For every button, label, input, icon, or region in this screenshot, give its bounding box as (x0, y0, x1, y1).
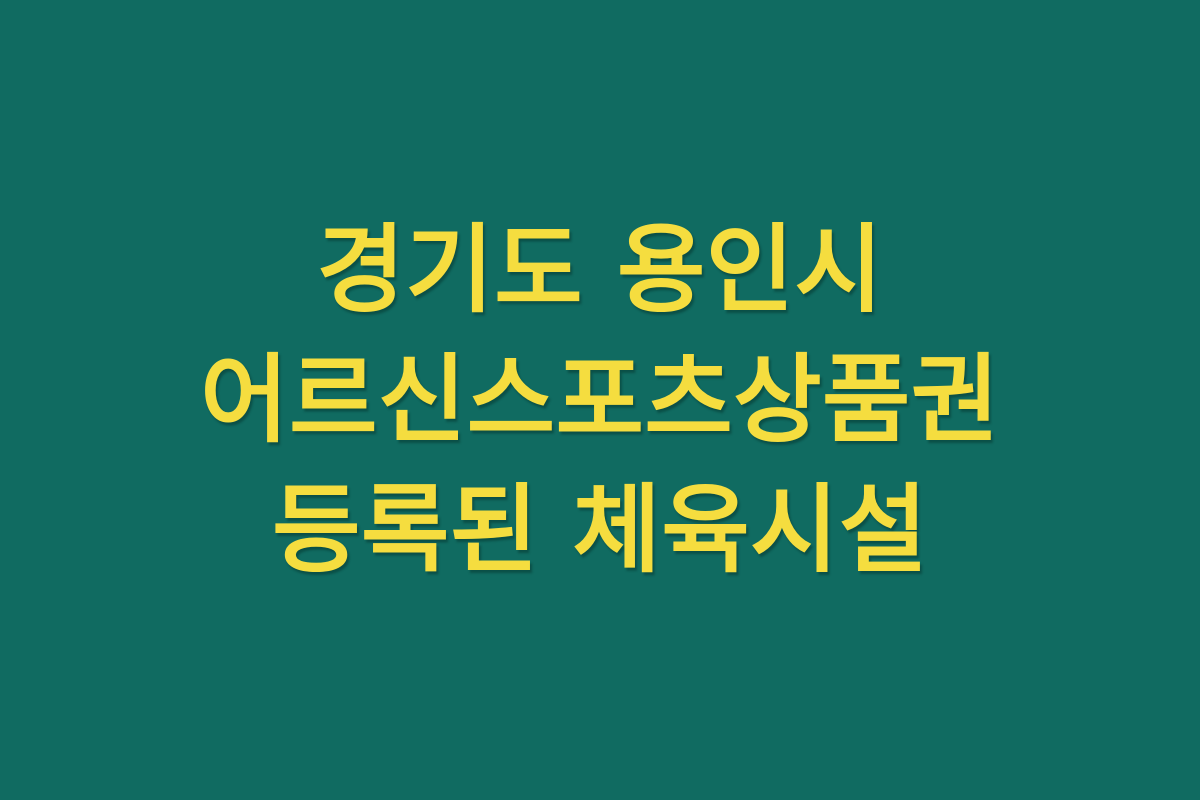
page-title: 경기도 용인시 어르신스포츠상품권 등록된 체육시설 (96, 205, 1104, 595)
title-banner: 경기도 용인시 어르신스포츠상품권 등록된 체육시설 (0, 0, 1200, 800)
